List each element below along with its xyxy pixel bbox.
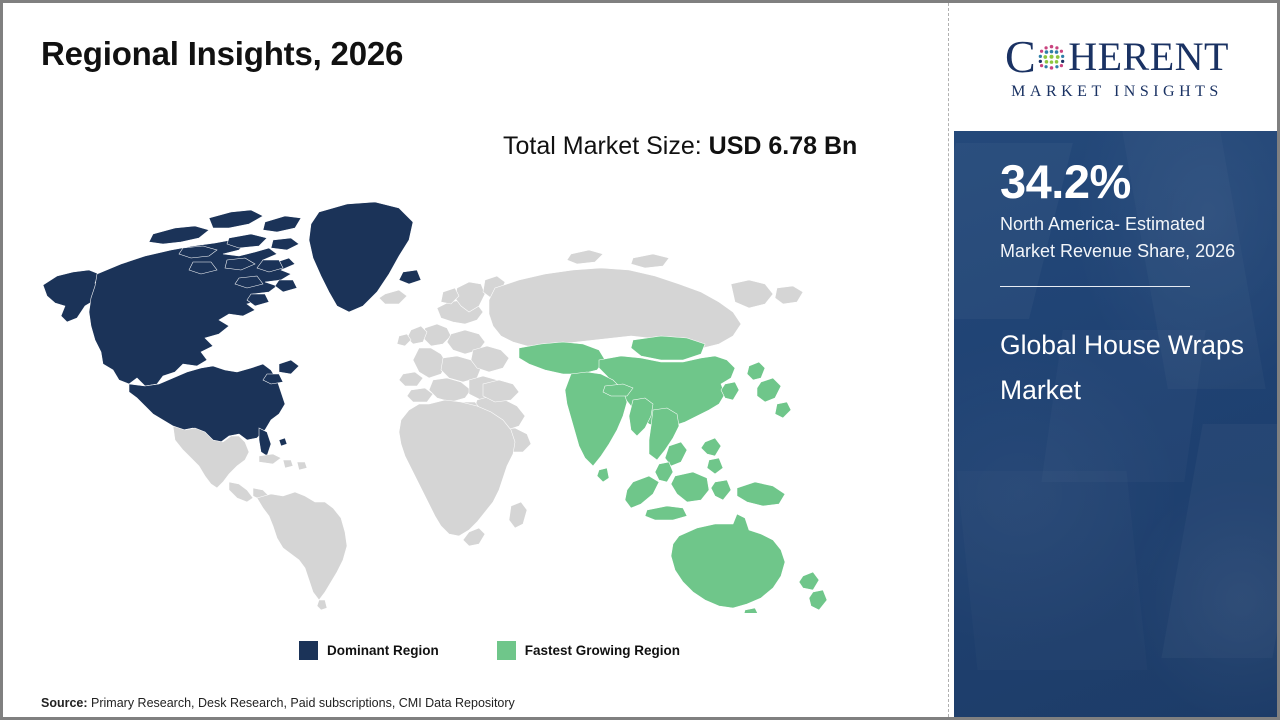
- background-texture-shape: [1162, 424, 1280, 658]
- total-market-size: Total Market Size: USD 6.78 Bn: [503, 127, 903, 165]
- legend-label-fastest-growing: Fastest Growing Region: [525, 643, 680, 658]
- logo-letters-rest: HERENT: [1068, 37, 1229, 77]
- legend-item-fastest-growing[interactable]: Fastest Growing Region: [497, 641, 680, 660]
- infographic-slide: Regional Insights, 2026 Total Market Siz…: [0, 0, 1280, 720]
- vertical-divider: [948, 3, 949, 717]
- brand-logo[interactable]: C: [954, 3, 1280, 131]
- logo-letter-c: C: [1005, 34, 1036, 80]
- logo-tagline: MARKET INSIGHTS: [1011, 84, 1223, 100]
- background-texture-shape: [957, 471, 1147, 670]
- world-map: [33, 188, 843, 613]
- left-content-pane: Regional Insights, 2026 Total Market Siz…: [3, 3, 948, 717]
- source-note: Source: Primary Research, Desk Research,…: [41, 696, 515, 710]
- stat-content: 34.2% North America- Estimated Market Re…: [1000, 157, 1254, 412]
- legend-label-dominant: Dominant Region: [327, 643, 439, 658]
- source-label: Source:: [41, 696, 88, 710]
- market-name-title: Global House Wraps Market: [1000, 323, 1254, 412]
- square-swatch-icon: [299, 641, 318, 660]
- page-title: Regional Insights, 2026: [41, 35, 403, 73]
- world-map-svg: [33, 188, 843, 613]
- stat-divider-rule: [1000, 286, 1190, 288]
- total-market-size-value: USD 6.78 Bn: [709, 132, 858, 160]
- legend-item-dominant[interactable]: Dominant Region: [299, 641, 439, 660]
- region-north-america[interactable]: [43, 202, 421, 456]
- logo-wordmark: C: [1005, 34, 1229, 80]
- total-market-size-label: Total Market Size:: [503, 132, 709, 160]
- source-text: Primary Research, Desk Research, Paid su…: [88, 696, 515, 710]
- stat-panel: 34.2% North America- Estimated Market Re…: [954, 131, 1280, 717]
- map-legend: Dominant Region Fastest Growing Region: [299, 641, 680, 660]
- right-panel: C: [954, 3, 1280, 717]
- stat-percent-value: 34.2%: [1000, 157, 1254, 207]
- globe-icon: [1036, 42, 1067, 73]
- stat-caption: North America- Estimated Market Revenue …: [1000, 211, 1254, 266]
- square-swatch-icon: [497, 641, 516, 660]
- region-asia-pacific[interactable]: [519, 336, 827, 613]
